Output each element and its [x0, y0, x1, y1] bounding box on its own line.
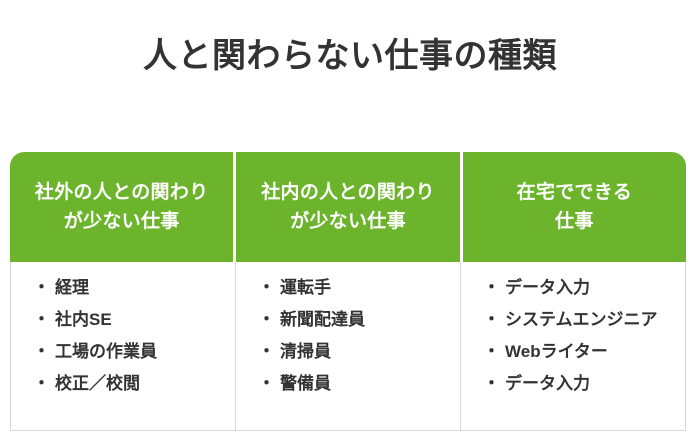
job-list-external-contact: ・ 経理 ・ 社内SE ・ 工場の作業員 ・ 校正／校閲 — [33, 279, 221, 392]
table-body-cell-remote-work: ・ データ入力 ・ システムエンジニア ・ Webライター ・ データ入力 — [460, 262, 685, 430]
list-item-label: 清掃員 — [280, 343, 331, 360]
header-text-block: 在宅でできる 仕事 — [517, 178, 632, 237]
list-item-label: 新聞配達員 — [280, 311, 365, 328]
list-item: ・ 清掃員 — [258, 343, 446, 360]
list-item-label: 運転手 — [280, 279, 331, 296]
table-header-row: 社外の人との関わり が少ない仕事 社内の人との関わり が少ない仕事 在宅でできる… — [10, 152, 686, 262]
list-item: ・ 経理 — [33, 279, 221, 296]
table-header-cell-internal-contact: 社内の人との関わり が少ない仕事 — [236, 152, 459, 262]
bullet-icon: ・ — [258, 279, 275, 296]
bullet-icon: ・ — [33, 375, 50, 392]
header-text-block: 社内の人との関わり が少ない仕事 — [261, 178, 435, 237]
header-line-2: が少ない仕事 — [290, 211, 406, 232]
infographic-page: 人と関わらない仕事の種類 社外の人との関わり が少ない仕事 社内の人との関わり … — [0, 0, 700, 440]
list-item-label: 工場の作業員 — [55, 343, 157, 360]
list-item-label: システムエンジニア — [505, 311, 658, 328]
list-item: ・ 社内SE — [33, 311, 221, 328]
header-line-2: が少ない仕事 — [64, 211, 180, 232]
bullet-icon: ・ — [483, 279, 500, 296]
bullet-icon: ・ — [483, 343, 500, 360]
list-item-label: 校正／校閲 — [55, 375, 140, 392]
list-item: ・ システムエンジニア — [483, 311, 671, 328]
header-line-1: 社内の人との関わり — [261, 182, 435, 203]
bullet-icon: ・ — [33, 343, 50, 360]
jobs-table: 社外の人との関わり が少ない仕事 社内の人との関わり が少ない仕事 在宅でできる… — [10, 152, 686, 431]
bullet-icon: ・ — [33, 279, 50, 296]
job-list-internal-contact: ・ 運転手 ・ 新聞配達員 ・ 清掃員 ・ 警備員 — [258, 279, 446, 392]
table-body-cell-external-contact: ・ 経理 ・ 社内SE ・ 工場の作業員 ・ 校正／校閲 — [11, 262, 235, 430]
list-item: ・ データ入力 — [483, 375, 671, 392]
table-body-cell-internal-contact: ・ 運転手 ・ 新聞配達員 ・ 清掃員 ・ 警備員 — [235, 262, 460, 430]
list-item: ・ 工場の作業員 — [33, 343, 221, 360]
list-item-label: Webライター — [505, 343, 608, 360]
header-line-1: 社外の人との関わり — [35, 182, 209, 203]
header-text-block: 社外の人との関わり が少ない仕事 — [35, 178, 209, 237]
bullet-icon: ・ — [258, 343, 275, 360]
list-item-label: データ入力 — [505, 279, 590, 296]
page-title: 人と関わらない仕事の種類 — [0, 36, 700, 77]
table-header-cell-external-contact: 社外の人との関わり が少ない仕事 — [10, 152, 233, 262]
bullet-icon: ・ — [258, 311, 275, 328]
list-item-label: 経理 — [55, 279, 89, 296]
list-item: ・ データ入力 — [483, 279, 671, 296]
list-item: ・ 警備員 — [258, 375, 446, 392]
list-item-label: 社内SE — [55, 311, 112, 328]
bullet-icon: ・ — [483, 311, 500, 328]
table-header-cell-remote-work: 在宅でできる 仕事 — [463, 152, 686, 262]
bullet-icon: ・ — [483, 375, 500, 392]
header-line-1: 在宅でできる — [517, 182, 632, 203]
list-item: ・ 校正／校閲 — [33, 375, 221, 392]
job-list-remote-work: ・ データ入力 ・ システムエンジニア ・ Webライター ・ データ入力 — [483, 279, 671, 392]
header-line-2: 仕事 — [555, 211, 594, 232]
list-item: ・ Webライター — [483, 343, 671, 360]
bullet-icon: ・ — [258, 375, 275, 392]
list-item-label: データ入力 — [505, 375, 590, 392]
list-item: ・ 運転手 — [258, 279, 446, 296]
table-body-row: ・ 経理 ・ 社内SE ・ 工場の作業員 ・ 校正／校閲 — [10, 262, 686, 431]
list-item: ・ 新聞配達員 — [258, 311, 446, 328]
bullet-icon: ・ — [33, 311, 50, 328]
list-item-label: 警備員 — [280, 375, 331, 392]
